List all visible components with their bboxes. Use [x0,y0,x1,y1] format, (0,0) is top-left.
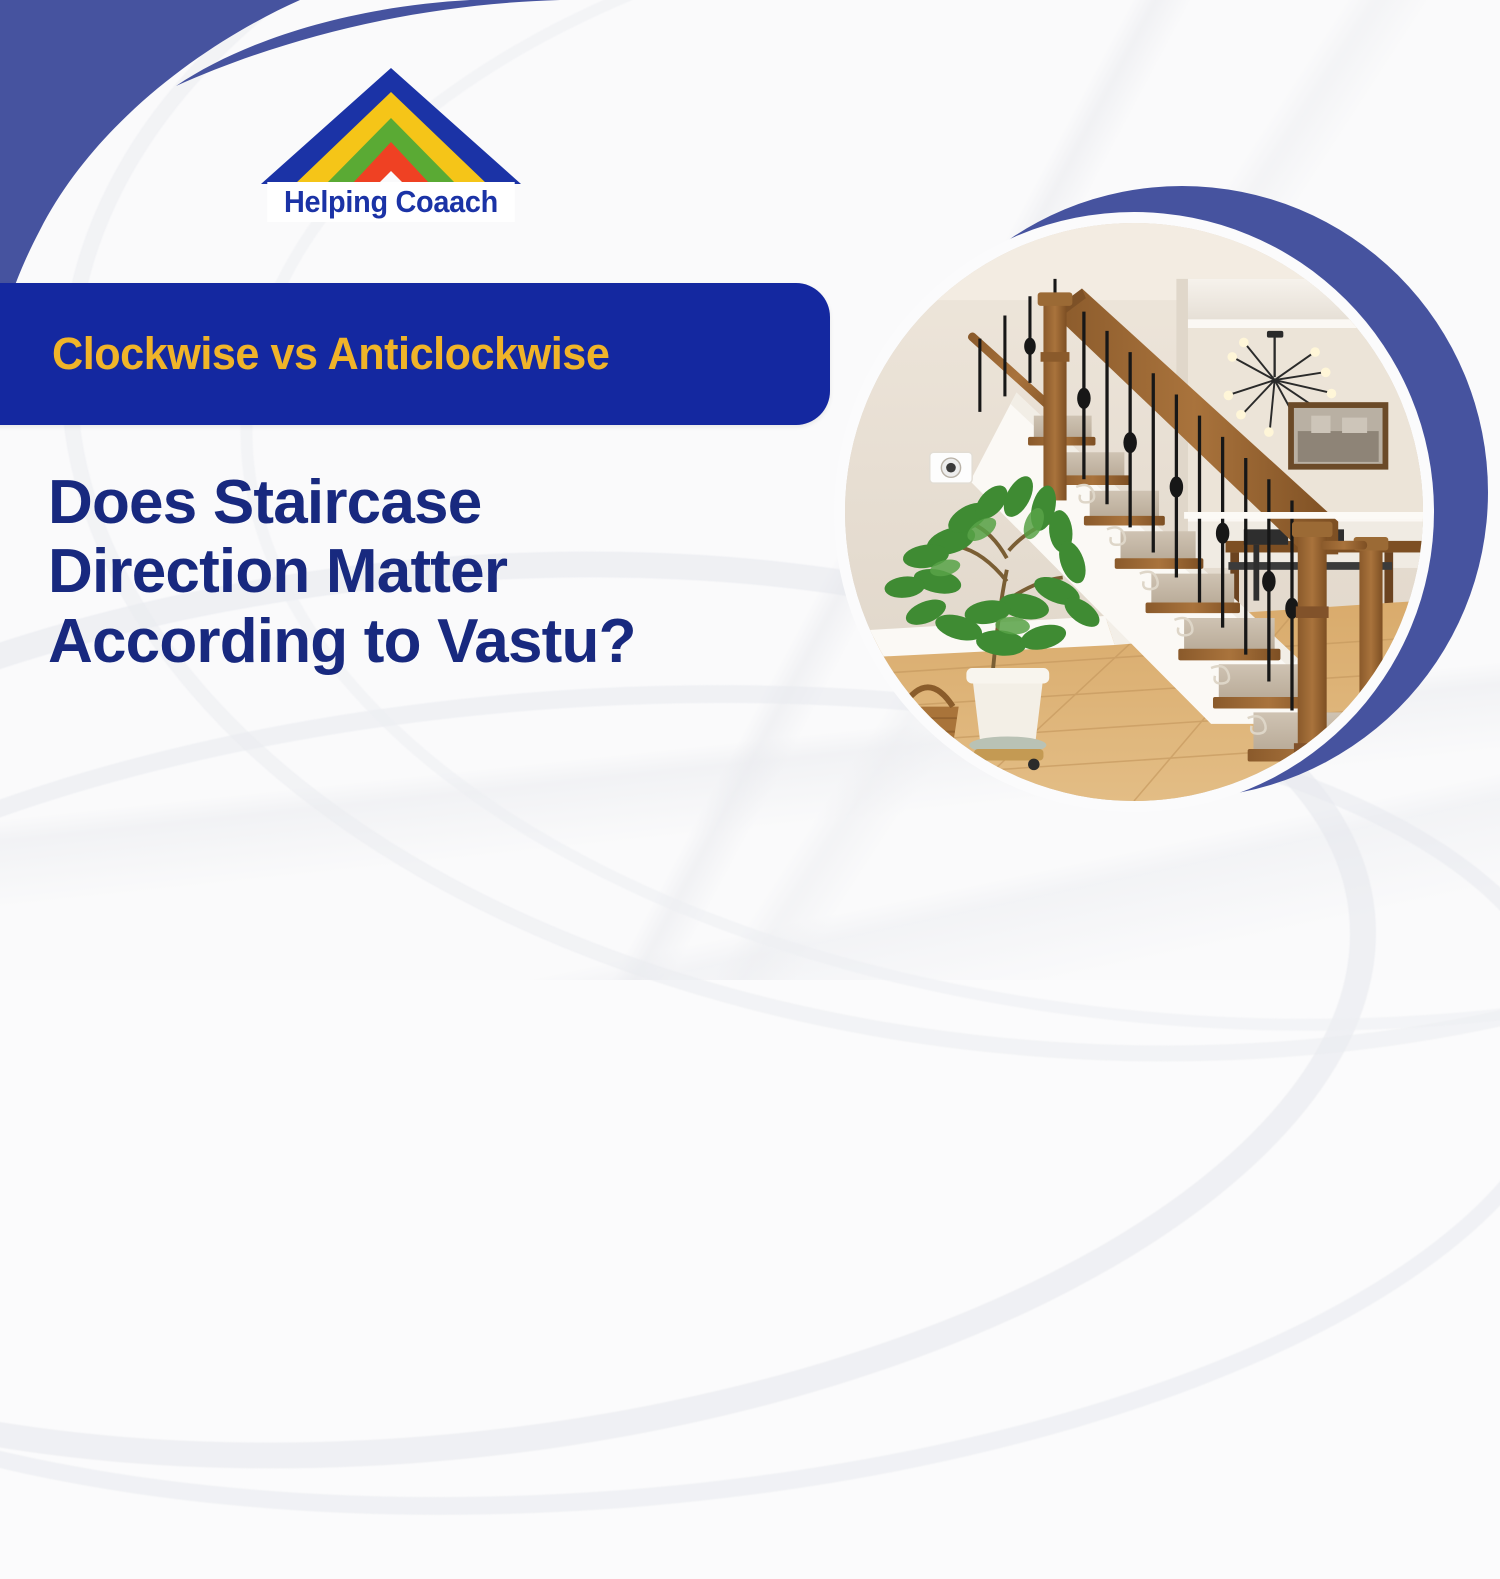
page-title-line-1: Does Staircase [48,468,848,537]
brand-logo-text: Helping Coaach [267,182,514,222]
page-title: Does Staircase Direction Matter Accordin… [48,468,848,676]
staircase-interior-photo [845,223,1423,801]
subtitle-banner: Clockwise vs Anticlockwise [0,283,830,425]
chevron-mark-icon [258,62,524,190]
subtitle-banner-label: Clockwise vs Anticlockwise [52,328,609,380]
page-title-line-3: According to Vastu? [48,607,848,676]
brand-logo[interactable]: Helping Coaach [258,62,524,237]
photo-frame [834,212,1434,812]
thermostat-icon [930,452,972,483]
newel-post-lower [1292,522,1332,765]
page-title-line-2: Direction Matter [48,537,848,606]
framed-artwork [1288,402,1388,469]
hero-image-area [820,170,1500,870]
staircase-illustration [845,223,1423,801]
